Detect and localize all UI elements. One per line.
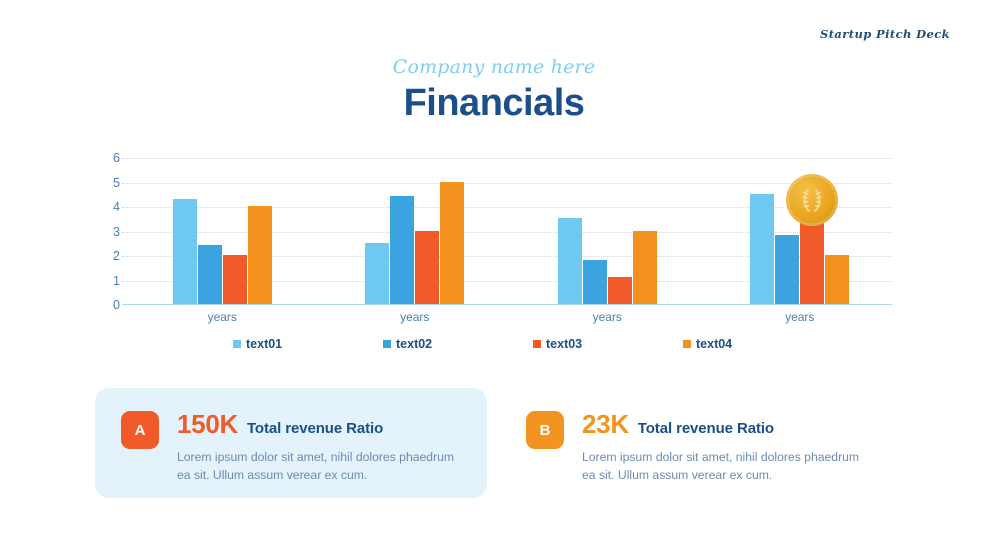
bar-text03-group3[interactable]: [608, 277, 632, 304]
chart-baseline: [122, 304, 892, 305]
bar-text04-group1[interactable]: [248, 206, 272, 304]
y-axis-tick: 2: [98, 250, 120, 263]
stat-card-b-value: 23K: [582, 411, 629, 437]
bar-text02-group1[interactable]: [198, 245, 222, 304]
bar-text03-group2[interactable]: [415, 231, 439, 305]
bar-text02-group2[interactable]: [390, 196, 414, 304]
stat-card-b[interactable]: B 23K Total revenue Ratio Lorem ipsum do…: [500, 388, 892, 498]
stat-card-a-label: Total revenue Ratio: [247, 421, 383, 436]
x-axis-label: years: [355, 310, 475, 324]
bar-text04-group4[interactable]: [825, 255, 849, 304]
stat-card-a-body: 150K Total revenue Ratio Lorem ipsum dol…: [177, 410, 463, 484]
legend-item-text01[interactable]: text01: [233, 337, 282, 351]
legend-swatch-icon: [383, 340, 391, 348]
y-axis-tick: 5: [98, 176, 120, 189]
bar-group: [558, 157, 657, 304]
y-axis: 0123456: [98, 158, 120, 308]
stat-card-a[interactable]: A 150K Total revenue Ratio Lorem ipsum d…: [95, 388, 487, 498]
stat-card-b-label: Total revenue Ratio: [638, 421, 774, 436]
chart-legend: text01text02text03text04: [98, 337, 898, 355]
stat-card-b-headline: 23K Total revenue Ratio: [582, 411, 868, 437]
legend-label: text02: [396, 337, 432, 351]
y-axis-tick: 0: [98, 299, 120, 312]
stat-card-a-description: Lorem ipsum dolor sit amet, nihil dolore…: [177, 449, 463, 484]
stat-card-a-value: 150K: [177, 411, 238, 437]
legend-label: text04: [696, 337, 732, 351]
legend-item-text04[interactable]: text04: [683, 337, 732, 351]
bar-text01-group2[interactable]: [365, 243, 389, 304]
x-axis-label: years: [740, 310, 860, 324]
x-axis-label: years: [162, 310, 282, 324]
x-axis-label: years: [547, 310, 667, 324]
deck-tag: Startup Pitch Deck: [820, 27, 950, 41]
stat-card-a-row: A 150K Total revenue Ratio Lorem ipsum d…: [121, 410, 463, 484]
stat-card-b-description: Lorem ipsum dolor sit amet, nihil dolore…: [582, 449, 868, 484]
stat-card-a-headline: 150K Total revenue Ratio: [177, 411, 463, 437]
y-axis-tick: 4: [98, 201, 120, 214]
stat-card-b-body: 23K Total revenue Ratio Lorem ipsum dolo…: [582, 410, 868, 484]
stat-card-b-row: B 23K Total revenue Ratio Lorem ipsum do…: [526, 410, 868, 484]
bar-text02-group3[interactable]: [583, 260, 607, 304]
bar-text03-group1[interactable]: [223, 255, 247, 304]
company-name: Company name here: [0, 58, 988, 77]
legend-item-text03[interactable]: text03: [533, 337, 582, 351]
bar-text04-group2[interactable]: [440, 182, 464, 305]
bar-text01-group4[interactable]: [750, 194, 774, 304]
gold-medal-badge-icon: [786, 174, 838, 226]
bar-group: [173, 157, 272, 304]
y-axis-tick: 1: [98, 274, 120, 287]
chart-plot-area: yearsyearsyearsyears: [122, 158, 892, 305]
legend-label: text01: [246, 337, 282, 351]
legend-item-text02[interactable]: text02: [383, 337, 432, 351]
y-axis-tick: 6: [98, 152, 120, 165]
bar-group: [365, 157, 464, 304]
bar-text02-group4[interactable]: [775, 235, 799, 304]
bar-text04-group3[interactable]: [633, 231, 657, 305]
bar-text01-group3[interactable]: [558, 218, 582, 304]
stat-card-b-badge: B: [526, 411, 564, 449]
legend-label: text03: [546, 337, 582, 351]
legend-swatch-icon: [233, 340, 241, 348]
stat-card-a-badge: A: [121, 411, 159, 449]
page-title: Financials: [0, 83, 988, 125]
legend-swatch-icon: [683, 340, 691, 348]
title-block: Company name here Financials: [0, 58, 988, 125]
legend-swatch-icon: [533, 340, 541, 348]
bar-chart: 0123456 yearsyearsyearsyears: [98, 158, 898, 348]
bar-text01-group1[interactable]: [173, 199, 197, 304]
y-axis-tick: 3: [98, 225, 120, 238]
